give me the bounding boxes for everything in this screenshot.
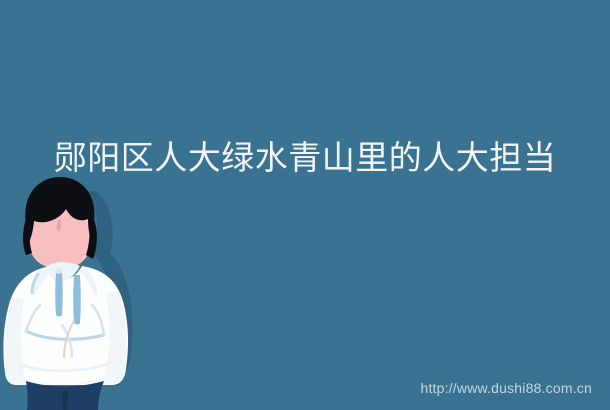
drawstring-left (55, 273, 63, 317)
watermark-url: http://www.dushi88.com.cn (420, 380, 592, 396)
hoodie (3, 262, 128, 385)
person-illustration (0, 175, 150, 410)
drawstring-right (73, 275, 81, 325)
image-canvas: 郧阳区人大绿水青山里的人大担当 http://www.dushi88.com.c… (0, 0, 610, 410)
page-title: 郧阳区人大绿水青山里的人大担当 (0, 138, 610, 178)
pants (26, 381, 104, 410)
